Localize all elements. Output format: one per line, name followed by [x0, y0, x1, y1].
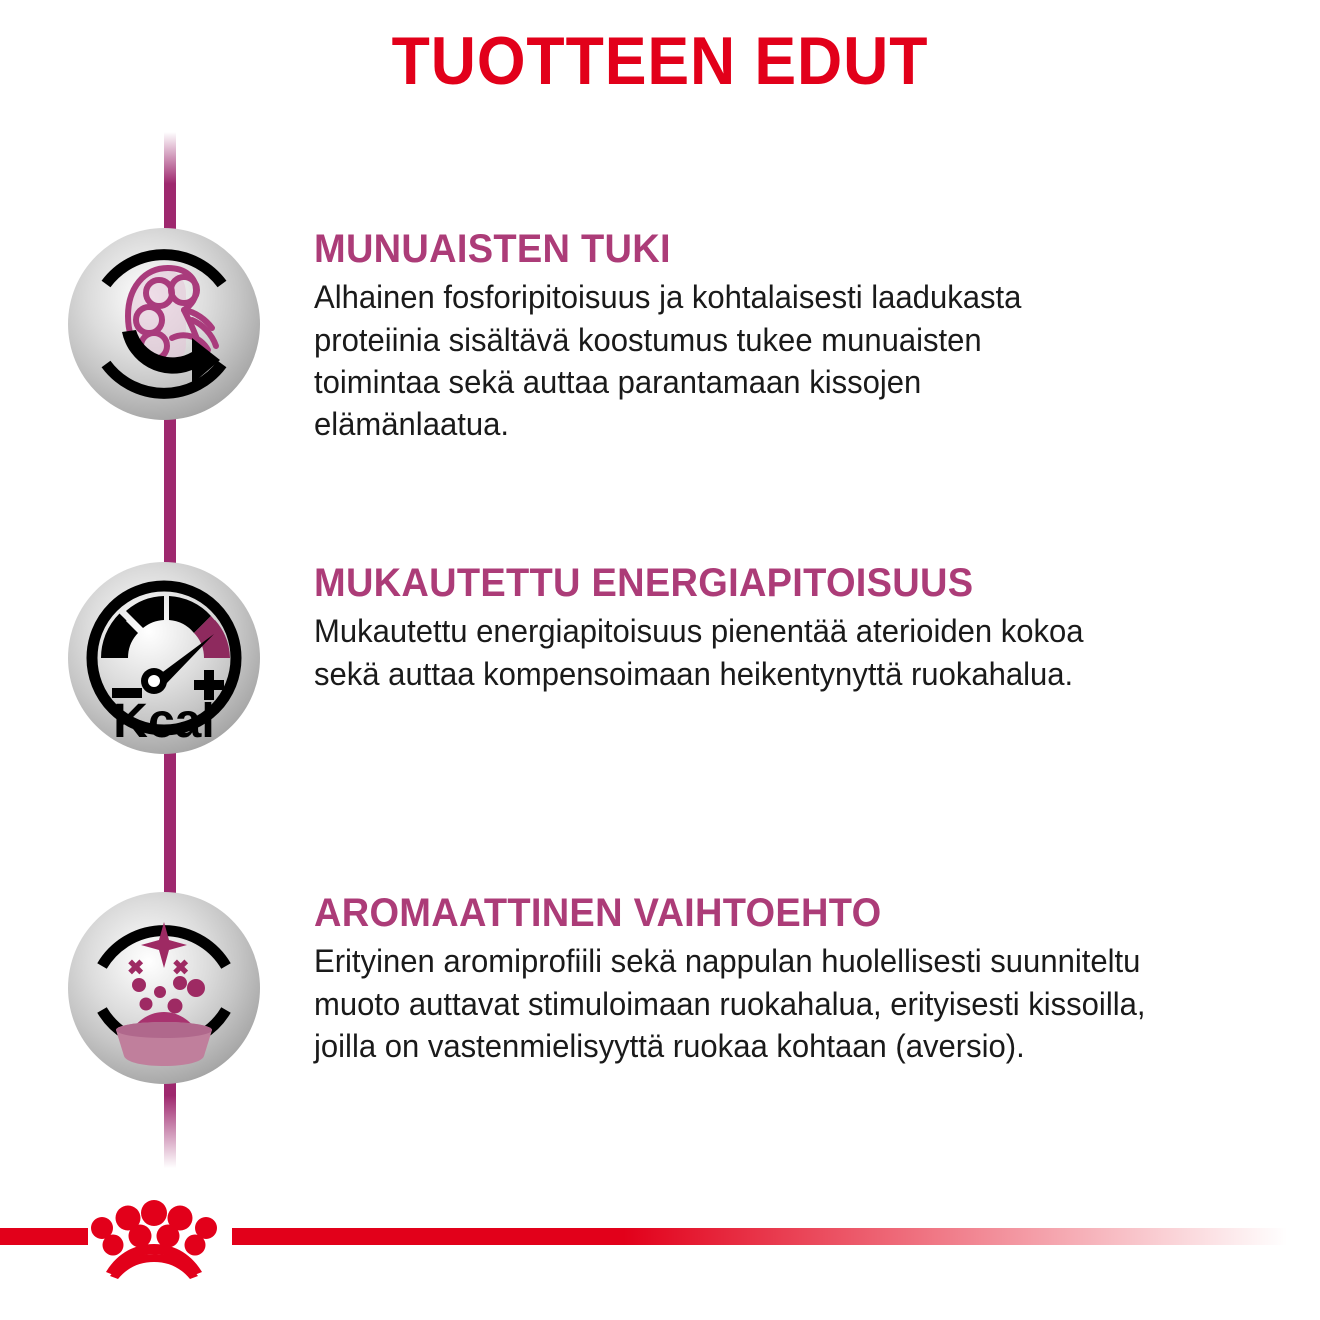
body-line: Alhainen fosforipitoisuus ja kohtalaises…: [314, 276, 1250, 318]
kidney-cycle-icon: [68, 228, 260, 420]
page-title: TUOTTEEN EDUT: [53, 26, 1267, 97]
feature-body: Mukautettu energiapitoisuus pienentää at…: [314, 610, 1250, 695]
feature-heading: MUNUAISTEN TUKI: [314, 228, 1245, 270]
aroma-bowl-icon: [68, 892, 260, 1084]
svg-text:Kcal: Kcal: [113, 695, 214, 748]
feature-text-adapted-energy: MUKAUTETTU ENERGIAPITOISUUS Mukautettu e…: [314, 562, 1294, 695]
footer-bar-left: [0, 1228, 88, 1245]
kcal-gauge-icon: Kcal: [68, 562, 260, 754]
body-line: sekä auttaa kompensoimaan heikentynyttä …: [314, 653, 1250, 695]
body-line: Mukautettu energiapitoisuus pienentää at…: [314, 610, 1250, 652]
feature-heading: MUKAUTETTU ENERGIAPITOISUUS: [314, 562, 1245, 604]
footer: [0, 1188, 1320, 1320]
feature-body: Erityinen aromiprofiili sekä nappulan hu…: [314, 940, 1250, 1067]
body-line: joilla on vastenmielisyyttä ruokaa kohta…: [314, 1025, 1250, 1067]
royal-canin-crown-icon: [88, 1194, 220, 1280]
body-line: proteiinia sisältävä koostumus tukee mun…: [314, 319, 1250, 361]
feature-text-aromatic-option: AROMAATTINEN VAIHTOEHTO Erityinen aromip…: [314, 892, 1294, 1067]
feature-body: Alhainen fosforipitoisuus ja kohtalaises…: [314, 276, 1250, 445]
body-line: Erityinen aromiprofiili sekä nappulan hu…: [314, 940, 1250, 982]
body-line: toimintaa sekä auttaa parantamaan kissoj…: [314, 361, 1250, 403]
feature-text-kidney-support: MUNUAISTEN TUKI Alhainen fosforipitoisuu…: [314, 228, 1294, 445]
feature-heading: AROMAATTINEN VAIHTOEHTO: [314, 892, 1245, 934]
body-line: muoto auttavat stimuloimaan ruokahalua, …: [314, 983, 1250, 1025]
footer-bar-right: [232, 1228, 1320, 1245]
product-benefits-page: TUOTTEEN EDUT: [0, 0, 1320, 1320]
body-line: elämänlaatua.: [314, 403, 1250, 445]
